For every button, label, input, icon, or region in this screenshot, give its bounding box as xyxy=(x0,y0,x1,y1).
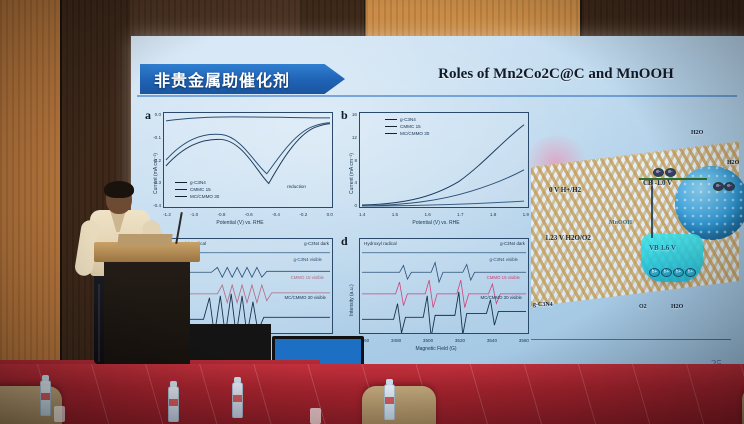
legend-entry: MC/CMMO 30 xyxy=(190,193,219,200)
water-label-right: H2O xyxy=(727,160,739,166)
figure-panels: a reduction 0.0 -0.1 -0.2 -0.3 -0.4 xyxy=(145,108,535,358)
panel-a-xticks: -1.2 -1.0 -0.8 -0.6 -0.4 -0.2 0.0 xyxy=(163,212,333,217)
xtick: 3500 xyxy=(423,338,433,343)
water-label-bottom: H2O xyxy=(671,304,683,310)
xtick: 1.6 xyxy=(424,212,430,217)
photocatalysis-schematic: e- e- e- e- h+ h+ h+ h+ CB -1.0 V VB 1.6… xyxy=(531,116,741,356)
trace-label: g-C3N4 dark xyxy=(304,241,329,246)
cb-label: CB -1.0 V xyxy=(643,179,672,187)
xtick: 3520 xyxy=(455,338,465,343)
legend-entry: MC/CMMO 30 xyxy=(400,130,429,137)
trace-label: g-C3N4 visible xyxy=(293,257,322,262)
xtick: 1.7 xyxy=(457,212,463,217)
xtick: -0.4 xyxy=(272,212,280,217)
band-transition-arrow xyxy=(651,180,653,238)
trace-label: MC/CMMO 30 visible xyxy=(285,295,326,300)
xtick: 3540 xyxy=(487,338,497,343)
panel-d-plot: Hydroxyl radical g-C3N4 dark g-C3N4 visi… xyxy=(359,238,529,334)
potential-h2-label: 0 V H+/H2 xyxy=(549,186,581,194)
xtick: 1.5 xyxy=(392,212,398,217)
hole-carrier: h+ xyxy=(673,268,684,277)
banner-underline xyxy=(137,95,737,97)
legend-entry: g-C3N4 xyxy=(190,179,206,186)
electron-carrier: e- xyxy=(724,182,735,191)
hole-carrier: h+ xyxy=(685,268,696,277)
xtick: 0.0 xyxy=(327,212,333,217)
audience-chair xyxy=(0,386,62,424)
xtick: 1.9 xyxy=(523,212,529,217)
legend-entry: CMMC 15 xyxy=(190,186,211,193)
panel-b: b 16 12 8 4 0 1.4 xyxy=(341,108,531,228)
panel-d-traces xyxy=(360,239,528,333)
trace-label: CMMO 15 visible xyxy=(291,275,324,280)
ytick: 12 xyxy=(352,135,357,140)
panel-d: d Hydroxyl radical g-C3N4 dark g-C3N4 vi… xyxy=(341,234,531,354)
trace-label: g-C3N4 dark xyxy=(500,241,525,246)
hole-carrier: h+ xyxy=(661,268,672,277)
panel-d-xlabel: Magnetic Field (G) xyxy=(341,346,531,352)
trace-label: CMMO 15 visible xyxy=(487,275,520,280)
podium-body xyxy=(104,260,190,364)
panel-a: a reduction 0.0 -0.1 -0.2 -0.3 -0.4 xyxy=(145,108,335,228)
electron-carrier: e- xyxy=(653,168,664,177)
xtick: 1.8 xyxy=(490,212,496,217)
water-bottle xyxy=(384,384,395,420)
panel-b-legend: g-C3N4 CMMC 15 MC/CMMO 30 xyxy=(385,116,429,137)
presenter-leg-seam xyxy=(98,284,100,362)
ytick: 0.0 xyxy=(155,112,161,117)
trace-label: MC/CMMO 30 visible xyxy=(481,295,522,300)
panel-a-legend: g-C3N4 CMMC 15 MC/CMMO 30 xyxy=(175,179,219,200)
panel-b-xticks: 1.4 1.5 1.6 1.7 1.8 1.9 xyxy=(359,212,529,217)
xtick: -0.6 xyxy=(245,212,253,217)
vb-label: VB 1.6 V xyxy=(649,244,676,252)
panel-b-ylabel: Current (mA cm⁻²) xyxy=(349,153,355,194)
trace-label: g-C3N4 visible xyxy=(489,257,518,262)
oxygen-label: O2 xyxy=(639,304,647,310)
electron-carrier: e- xyxy=(713,182,724,191)
panel-a-xlabel: Potential (V) vs. RHE xyxy=(145,220,335,226)
electron-carrier: e- xyxy=(665,168,676,177)
xtick: 1.4 xyxy=(359,212,365,217)
legend-entry: CMMC 15 xyxy=(400,123,421,130)
hole-carrier: h+ xyxy=(649,268,660,277)
drinking-glass xyxy=(54,406,65,422)
ytick: -0.1 xyxy=(153,135,161,140)
water-bottle xyxy=(40,380,51,416)
water-label-top: H2O xyxy=(691,130,703,136)
xtick: -0.8 xyxy=(218,212,226,217)
water-bottle xyxy=(168,386,179,422)
ytick: 0 xyxy=(354,203,357,208)
cocatalyst-label: MnOOH xyxy=(609,220,632,226)
panel-b-xlabel: Potential (V) vs. RHE xyxy=(341,220,531,226)
xtick: -1.0 xyxy=(190,212,198,217)
xtick: 3480 xyxy=(391,338,401,343)
material-label: g-C3N4 xyxy=(533,302,553,308)
schematic-baseline xyxy=(531,339,731,340)
drinking-glass xyxy=(310,408,321,424)
potential-o2-label: 1.23 V H2O/O2 xyxy=(545,234,591,242)
presenter-hair xyxy=(104,181,134,198)
legend-entry: g-C3N4 xyxy=(400,116,416,123)
ytick: 16 xyxy=(352,112,357,117)
panel-d-xticks: 3460 3480 3500 3520 3540 3560 xyxy=(359,338,529,343)
panel-d-ylabel: Intensity (a.u.) xyxy=(349,284,355,316)
slide-banner-label: 非贵金属助催化剂 xyxy=(140,67,290,91)
podium xyxy=(104,242,190,364)
audience-chair xyxy=(362,386,436,424)
water-bottle xyxy=(232,382,243,418)
panel-d-tag: d xyxy=(341,234,348,249)
panel-d-title: Hydroxyl radical xyxy=(364,241,397,246)
panel-a-annotation: reduction xyxy=(287,184,306,189)
laptop xyxy=(117,234,172,246)
xtick: 3560 xyxy=(519,338,529,343)
slide-title: Roles of Mn2Co2C@C and MnOOH xyxy=(381,66,731,83)
xtick: -0.2 xyxy=(299,212,307,217)
conference-photo: 非贵金属助催化剂 Roles of Mn2Co2C@C and MnOOH a … xyxy=(0,0,744,424)
slide-banner: 非贵金属助催化剂 xyxy=(140,64,345,94)
